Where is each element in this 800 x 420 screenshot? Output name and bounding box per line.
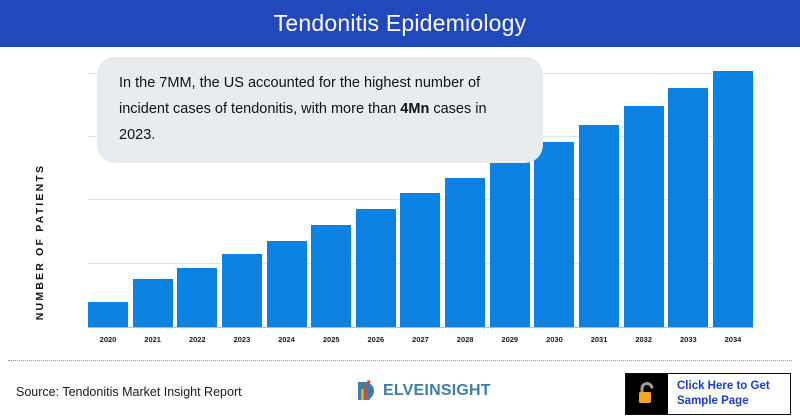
cta-label-line1: Click Here to Get	[677, 379, 790, 394]
sample-page-cta-button[interactable]: Click Here to Get Sample Page	[625, 373, 791, 415]
callout-box: In the 7MM, the US accounted for the hig…	[97, 57, 543, 163]
x-tick-2025: 2025	[311, 335, 351, 344]
logo-word-tail: NSIGHT	[429, 382, 491, 400]
padlock-icon	[626, 374, 668, 414]
x-axis-ticks: 2020202120222023202420252026202720282029…	[88, 335, 753, 344]
logo-word-main: ELVE	[383, 382, 424, 400]
y-axis-label: NUMBER OF PATIENTS	[30, 147, 50, 337]
open-padlock-icon-svg	[636, 381, 658, 407]
bar-2028	[445, 178, 485, 327]
axis-baseline	[88, 327, 753, 328]
bar-2025	[311, 225, 351, 327]
logo-bars-icon	[356, 379, 382, 403]
x-tick-2027: 2027	[400, 335, 440, 344]
bar-2030	[534, 142, 574, 327]
cta-label-line2: Sample Page	[677, 394, 790, 409]
bar-2024	[267, 241, 307, 327]
callout-text: In the 7MM, the US accounted for the hig…	[119, 70, 521, 148]
x-tick-2024: 2024	[267, 335, 307, 344]
cta-label: Click Here to Get Sample Page	[668, 379, 790, 409]
x-tick-2021: 2021	[133, 335, 173, 344]
bar-2033	[668, 88, 708, 327]
y-axis-label-text: NUMBER OF PATIENTS	[34, 164, 46, 320]
x-tick-2026: 2026	[356, 335, 396, 344]
source-text: Source: Tendonitis Market Insight Report	[16, 385, 242, 399]
x-tick-2034: 2034	[713, 335, 753, 344]
bar-column	[668, 47, 708, 327]
bar-column	[624, 47, 664, 327]
bar-2027	[400, 193, 440, 327]
header-banner: Tendonitis Epidemiology	[0, 0, 800, 47]
x-tick-2032: 2032	[624, 335, 664, 344]
x-tick-2020: 2020	[88, 335, 128, 344]
slide-root: Tendonitis Epidemiology NUMBER OF PATIEN…	[0, 0, 800, 420]
bar-2023	[222, 254, 262, 327]
bar-2026	[356, 209, 396, 327]
footer-divider	[8, 360, 792, 361]
x-tick-2031: 2031	[579, 335, 619, 344]
delveinsight-logo: ELVEINSIGHT	[356, 378, 491, 404]
logo-wordmark: ELVEINSIGHT	[383, 382, 491, 400]
logo-mark-svg	[356, 379, 382, 403]
x-tick-2023: 2023	[222, 335, 262, 344]
bar-2022	[177, 268, 217, 327]
callout-highlight: 4Mn	[400, 101, 429, 117]
bar-2034	[713, 71, 753, 327]
page-title: Tendonitis Epidemiology	[274, 10, 527, 37]
x-tick-2030: 2030	[534, 335, 574, 344]
bar-2020	[88, 302, 128, 327]
bar-2032	[624, 106, 664, 327]
x-tick-2029: 2029	[490, 335, 530, 344]
x-tick-2022: 2022	[177, 335, 217, 344]
x-tick-2028: 2028	[445, 335, 485, 344]
bar-2021	[133, 279, 173, 327]
bar-2029	[490, 161, 530, 327]
x-tick-2033: 2033	[668, 335, 708, 344]
bar-column	[579, 47, 619, 327]
bar-column	[713, 47, 753, 327]
bar-2031	[579, 125, 619, 327]
